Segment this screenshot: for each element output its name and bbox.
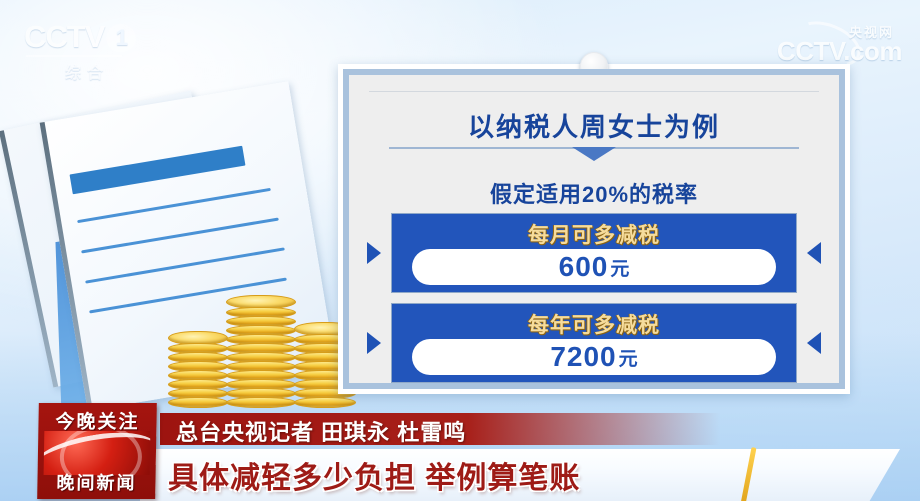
benefit-box: 每月可多减税 600 元 [391,213,797,293]
panel-hairline [369,91,819,92]
benefit-label: 每年可多减税 [392,309,796,339]
program-badge: 今晚关注 晚间新闻 [37,403,157,499]
chevron-down-icon [572,147,616,161]
badge-top-label: 今晚关注 [38,407,156,434]
benefit-row-yearly: 每年可多减税 7200 元 [365,303,823,383]
arrow-right-icon [367,332,381,354]
coin-stacks-illustration [160,300,360,408]
benefit-amount-pill: 7200 元 [412,339,776,375]
benefit-unit: 元 [619,344,638,371]
arrow-left-icon [807,242,821,264]
arrow-left-icon [807,332,821,354]
channel-sub-label: 综合 [24,59,150,83]
cctv-wordmark: CCTV1 [24,20,150,54]
benefit-amount-pill: 600 元 [412,249,776,285]
benefit-amount: 7200 [550,342,616,372]
arrow-right-icon [367,242,381,264]
cctv1-channel-logo: CCTV1 综合 [24,20,150,78]
logo-rule [26,55,122,57]
cctv-com-watermark: 央视网 CCTV.com [722,22,902,70]
panel-frame: 以纳税人周女士为例 假定适用20%的税率 每月可多减税 600 元 [343,69,845,389]
benefit-unit: 元 [610,254,629,281]
panel-inner: 以纳税人周女士为例 假定适用20%的税率 每月可多减税 600 元 [355,81,833,377]
broadcast-screenshot: CCTV1 综合 央视网 CCTV.com [0,0,920,501]
coin-stack-tall [226,297,296,408]
info-panel: 以纳税人周女士为例 假定适用20%的税率 每月可多减税 600 元 [338,64,850,394]
benefit-box: 每年可多减税 7200 元 [391,303,797,383]
cctv-com-en-label: CCTV.com [777,36,902,67]
benefit-row-monthly: 每月可多减税 600 元 [365,213,823,293]
cctv-text: CCTV [24,19,104,54]
lower-third: 总台央视记者 田琪永 杜雷鸣 具体减轻多少负担 举例算笔账 今晚关注 晚间新闻 [0,401,920,501]
benefit-label: 每月可多减税 [392,219,796,249]
badge-bottom-label: 晚间新闻 [37,469,155,495]
panel-title: 以纳税人周女士为例 [355,107,833,144]
headline-text: 具体减轻多少负担 举例算笔账 [168,453,580,497]
panel-subtitle: 假定适用20%的税率 [355,177,833,209]
coin-stack-short [168,333,228,408]
reporter-credit: 总台央视记者 田琪永 杜雷鸣 [176,415,466,447]
channel-number: 1 [106,24,136,52]
benefit-amount: 600 [559,252,609,282]
